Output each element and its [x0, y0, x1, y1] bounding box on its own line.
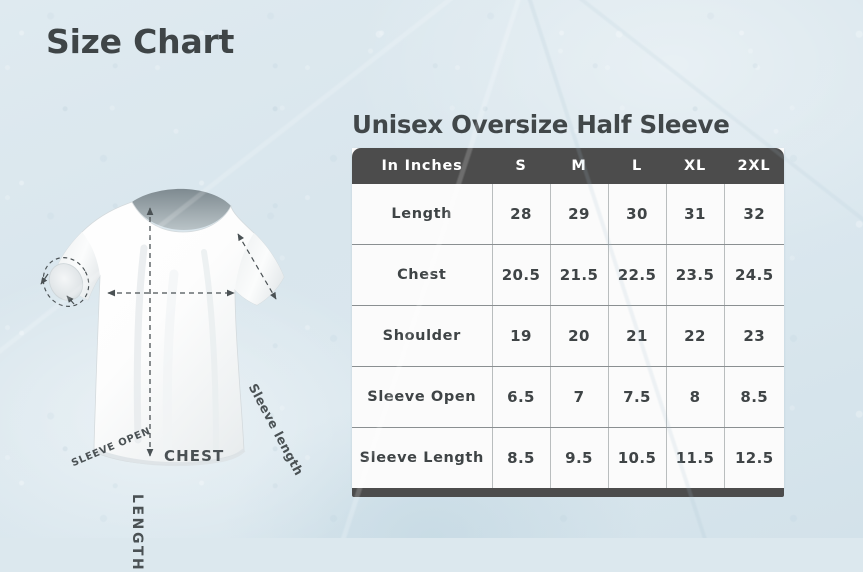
cell-shoulder-2xl: 23 [724, 305, 784, 366]
cell-chest-m: 21.5 [550, 244, 608, 305]
cell-length-s: 28 [492, 184, 550, 245]
cell-sleeve-open-xl: 8 [666, 366, 724, 427]
cell-sleeve-open-2xl: 8.5 [724, 366, 784, 427]
table-bottom-bar [352, 488, 784, 497]
column-header-2xl: 2XL [724, 148, 784, 184]
sleeve-open-arrow-left [41, 274, 48, 284]
cell-sleeve-open-m: 7 [550, 366, 608, 427]
row-label-chest: Chest [352, 244, 492, 305]
cell-chest-l: 22.5 [608, 244, 666, 305]
column-header-l: L [608, 148, 666, 184]
cell-sleeve-open-l: 7.5 [608, 366, 666, 427]
cell-shoulder-l: 21 [608, 305, 666, 366]
cell-sleeve-length-2xl: 12.5 [724, 427, 784, 488]
table-row: Length 28 29 30 31 32 [352, 184, 784, 245]
table-title: Unisex Oversize Half Sleeve [352, 112, 784, 139]
cell-length-xl: 31 [666, 184, 724, 245]
size-table-body: Length 28 29 30 31 32 Chest 20.5 21.5 22… [352, 184, 784, 488]
cell-sleeve-length-xl: 11.5 [666, 427, 724, 488]
cell-length-l: 30 [608, 184, 666, 245]
row-label-sleeve-length: Sleeve Length [352, 427, 492, 488]
table-row: Shoulder 19 20 21 22 23 [352, 305, 784, 366]
table-row: Sleeve Open 6.5 7 7.5 8 8.5 [352, 366, 784, 427]
size-chart-page: Size Chart [0, 0, 863, 538]
tshirt-illustration: CHEST LENGTH Sleeve length SLEEVE OPEN [26, 178, 326, 478]
column-header-s: S [492, 148, 550, 184]
cell-sleeve-length-m: 9.5 [550, 427, 608, 488]
cell-length-2xl: 32 [724, 184, 784, 245]
cell-shoulder-s: 19 [492, 305, 550, 366]
page-title: Size Chart [46, 24, 234, 60]
cell-chest-s: 20.5 [492, 244, 550, 305]
length-label: LENGTH [129, 494, 145, 572]
row-label-length: Length [352, 184, 492, 245]
column-header-xl: XL [666, 148, 724, 184]
tshirt-graphic [26, 178, 326, 478]
size-table-head: In Inches S M L XL 2XL [352, 148, 784, 184]
cell-chest-xl: 23.5 [666, 244, 724, 305]
size-table-block: Unisex Oversize Half Sleeve In Inches S … [352, 112, 784, 497]
cell-sleeve-length-l: 10.5 [608, 427, 666, 488]
table-row: Sleeve Length 8.5 9.5 10.5 11.5 12.5 [352, 427, 784, 488]
column-header-m: M [550, 148, 608, 184]
row-label-shoulder: Shoulder [352, 305, 492, 366]
table-header-row: In Inches S M L XL 2XL [352, 148, 784, 184]
cell-sleeve-length-s: 8.5 [492, 427, 550, 488]
row-label-sleeve-open: Sleeve Open [352, 366, 492, 427]
cell-shoulder-xl: 22 [666, 305, 724, 366]
cell-shoulder-m: 20 [550, 305, 608, 366]
column-header-unit: In Inches [352, 148, 492, 184]
cell-chest-2xl: 24.5 [724, 244, 784, 305]
cell-sleeve-open-s: 6.5 [492, 366, 550, 427]
size-table: In Inches S M L XL 2XL Length 28 29 30 3… [352, 148, 784, 488]
cell-length-m: 29 [550, 184, 608, 245]
table-row: Chest 20.5 21.5 22.5 23.5 24.5 [352, 244, 784, 305]
